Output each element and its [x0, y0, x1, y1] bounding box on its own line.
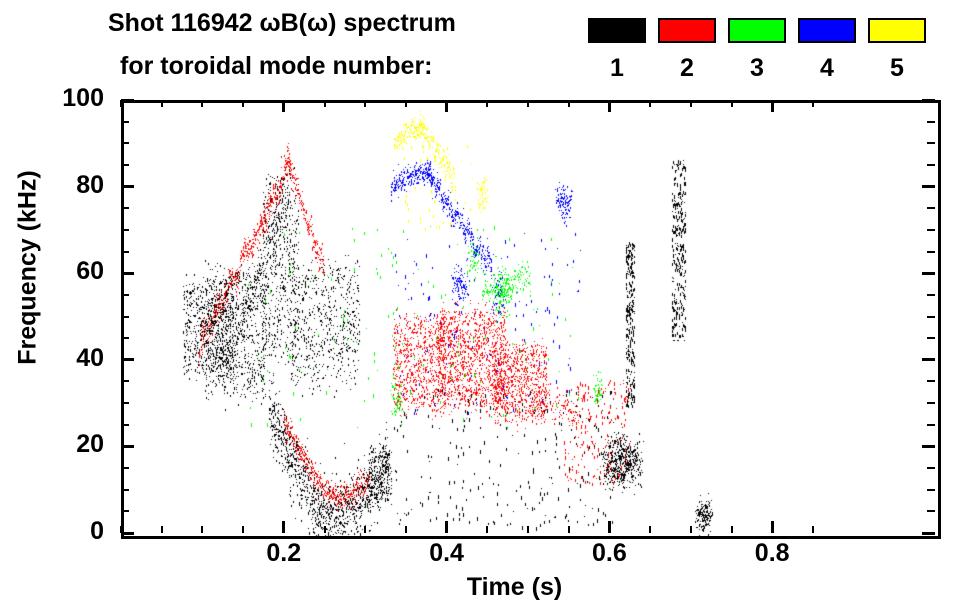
- y-major-tick-right: [922, 532, 935, 535]
- x-minor-tick: [568, 526, 570, 533]
- x-minor-tick-top: [161, 100, 163, 107]
- x-major-tick: [608, 521, 611, 533]
- y-minor-tick-right: [927, 207, 935, 209]
- x-minor-tick: [731, 526, 733, 533]
- x-major-tick-top: [771, 100, 774, 112]
- y-minor-tick-right: [927, 121, 935, 123]
- x-minor-tick: [201, 526, 203, 533]
- x-minor-tick-top: [201, 100, 203, 107]
- x-major-tick-top: [445, 100, 448, 112]
- y-major-tick: [121, 358, 134, 361]
- y-major-tick: [121, 99, 134, 102]
- y-axis-title: Frequency (kHz): [14, 148, 43, 388]
- y-tick-label: 80: [76, 171, 104, 200]
- x-minor-tick-top: [405, 100, 407, 107]
- x-minor-tick-top: [649, 100, 651, 107]
- x-minor-tick: [324, 526, 326, 533]
- y-minor-tick-right: [927, 229, 935, 231]
- y-minor-tick-right: [927, 489, 935, 491]
- legend-swatch-2: [658, 18, 716, 43]
- y-tick-label: 60: [76, 257, 104, 286]
- x-major-tick: [771, 521, 774, 533]
- y-minor-tick: [121, 142, 129, 144]
- x-minor-tick-top: [364, 100, 366, 107]
- y-major-tick-right: [922, 185, 935, 188]
- y-major-tick: [121, 445, 134, 448]
- x-minor-tick-top: [242, 100, 244, 107]
- legend-swatch-3: [728, 18, 786, 43]
- spectrogram-canvas: [124, 103, 938, 536]
- legend-swatch-4: [798, 18, 856, 43]
- y-minor-tick-right: [927, 510, 935, 512]
- x-minor-tick-top: [690, 100, 692, 107]
- y-minor-tick: [121, 380, 129, 382]
- x-minor-tick-top: [812, 100, 814, 107]
- y-tick-label: 40: [76, 344, 104, 373]
- x-axis-title-text: Time (s): [467, 573, 562, 601]
- legend-label-4: 4: [798, 54, 856, 83]
- y-major-tick-right: [922, 358, 935, 361]
- y-minor-tick-right: [927, 402, 935, 404]
- y-minor-tick-right: [927, 467, 935, 469]
- y-major-tick: [121, 185, 134, 188]
- y-minor-tick-right: [927, 316, 935, 318]
- x-major-tick: [282, 521, 285, 533]
- y-major-tick: [121, 532, 134, 535]
- figure-root: Shot 116942 ωB(ω) spectrum for toroidal …: [0, 0, 963, 615]
- y-tick-label: 100: [62, 84, 104, 113]
- legend: 12345: [588, 16, 936, 90]
- y-minor-tick: [121, 316, 129, 318]
- x-minor-tick: [161, 526, 163, 533]
- figure-title-line-2: for toroidal mode number:: [120, 52, 433, 81]
- legend-label-3: 3: [728, 54, 786, 83]
- x-minor-tick-top: [527, 100, 529, 107]
- y-minor-tick-right: [927, 142, 935, 144]
- y-minor-tick: [121, 424, 129, 426]
- x-minor-tick: [486, 526, 488, 533]
- y-minor-tick: [121, 294, 129, 296]
- x-minor-tick: [527, 526, 529, 533]
- plot-area: [121, 100, 941, 539]
- figure-title-line-1: Shot 116942 ωB(ω) spectrum: [108, 9, 456, 38]
- x-major-tick: [445, 521, 448, 533]
- y-minor-tick-right: [927, 251, 935, 253]
- x-major-tick-top: [282, 100, 285, 112]
- y-minor-tick: [121, 207, 129, 209]
- legend-label-1: 1: [588, 54, 646, 83]
- y-major-tick-right: [922, 272, 935, 275]
- x-tick-label: 0.8: [727, 539, 817, 568]
- y-minor-tick: [121, 489, 129, 491]
- x-minor-tick-top: [324, 100, 326, 107]
- x-major-tick-top: [608, 100, 611, 112]
- x-minor-tick-top: [731, 100, 733, 107]
- y-minor-tick: [121, 467, 129, 469]
- legend-label-2: 2: [658, 54, 716, 83]
- y-major-tick-right: [922, 99, 935, 102]
- x-minor-tick: [812, 526, 814, 533]
- y-minor-tick-right: [927, 424, 935, 426]
- x-tick-label: 0.2: [239, 539, 329, 568]
- legend-label-5: 5: [868, 54, 926, 83]
- y-major-tick-right: [922, 445, 935, 448]
- x-minor-tick: [690, 526, 692, 533]
- y-minor-tick: [121, 121, 129, 123]
- y-minor-tick-right: [927, 337, 935, 339]
- y-minor-tick-right: [927, 294, 935, 296]
- y-minor-tick: [121, 164, 129, 166]
- legend-swatch-1: [588, 18, 646, 43]
- x-minor-tick-top: [568, 100, 570, 107]
- y-minor-tick: [121, 229, 129, 231]
- y-minor-tick-right: [927, 380, 935, 382]
- x-tick-label: 0.4: [402, 539, 492, 568]
- y-minor-tick-right: [927, 164, 935, 166]
- x-tick-label: 0.6: [564, 539, 654, 568]
- x-minor-tick: [405, 526, 407, 533]
- y-minor-tick: [121, 510, 129, 512]
- x-minor-tick: [649, 526, 651, 533]
- legend-swatch-5: [868, 18, 926, 43]
- y-minor-tick: [121, 402, 129, 404]
- x-minor-tick: [364, 526, 366, 533]
- x-axis-title: Time (s): [0, 573, 963, 602]
- y-tick-label: 20: [76, 430, 104, 459]
- x-minor-tick: [242, 526, 244, 533]
- y-minor-tick: [121, 251, 129, 253]
- y-major-tick: [121, 272, 134, 275]
- x-minor-tick-top: [486, 100, 488, 107]
- y-minor-tick: [121, 337, 129, 339]
